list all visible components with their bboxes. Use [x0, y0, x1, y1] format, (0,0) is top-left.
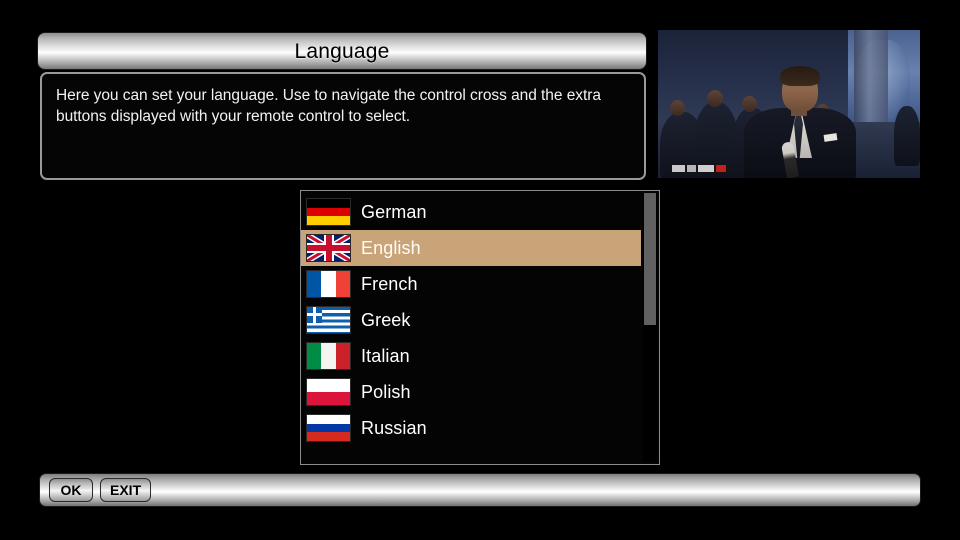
language-list-item-label: English [361, 239, 421, 257]
language-list-item[interactable]: Italian [301, 338, 641, 374]
language-list-item-label: Russian [361, 419, 427, 437]
tv-settings-screen: Language Here you can set your language.… [0, 0, 960, 540]
language-list-panel[interactable]: GermanEnglishFrenchGreekItalianPolishRus… [300, 190, 660, 465]
flag-germany-icon [306, 198, 351, 226]
language-list-item[interactable]: English [301, 230, 641, 266]
language-list-item-label: Greek [361, 311, 411, 329]
flag-poland-icon [306, 378, 351, 406]
live-tv-preview[interactable] [658, 30, 920, 178]
preview-crowd-head [670, 100, 685, 116]
flag-italy-icon [306, 342, 351, 370]
language-list-item[interactable]: Russian [301, 410, 641, 446]
preview-reporter-hair [780, 66, 820, 86]
flag-russia-icon [306, 414, 351, 442]
preview-crowd-head [742, 96, 757, 112]
list-scrollbar[interactable] [643, 193, 657, 462]
page-title: Language [294, 41, 389, 62]
language-list-item[interactable]: Polish [301, 374, 641, 410]
flag-france-icon [306, 270, 351, 298]
ok-button[interactable]: OK [49, 478, 93, 502]
language-list: GermanEnglishFrenchGreekItalianPolishRus… [301, 191, 641, 446]
logo-segment [716, 165, 726, 172]
language-list-item[interactable]: Greek [301, 302, 641, 338]
logo-segment [687, 165, 696, 172]
title-bar: Language [38, 33, 646, 69]
description-text: Here you can set your language. Use to n… [56, 85, 630, 127]
flag-united-kingdom-icon [306, 234, 351, 262]
logo-segment [698, 165, 714, 172]
language-list-item-label: French [361, 275, 418, 293]
flag-greece-icon [306, 306, 351, 334]
preview-crowd-person [894, 106, 920, 166]
preview-crowd-head [707, 90, 723, 107]
exit-button[interactable]: EXIT [100, 478, 151, 502]
scrollbar-thumb[interactable] [644, 193, 656, 325]
language-list-item-label: Polish [361, 383, 411, 401]
description-panel: Here you can set your language. Use to n… [40, 72, 646, 180]
preview-column [854, 30, 888, 126]
language-list-item[interactable]: German [301, 194, 641, 230]
logo-segment [672, 165, 685, 172]
language-list-item-label: Italian [361, 347, 410, 365]
language-list-item[interactable]: French [301, 266, 641, 302]
bottom-action-bar: OK EXIT [40, 474, 920, 506]
language-list-item-label: German [361, 203, 427, 221]
news-channel-bug [670, 163, 732, 174]
